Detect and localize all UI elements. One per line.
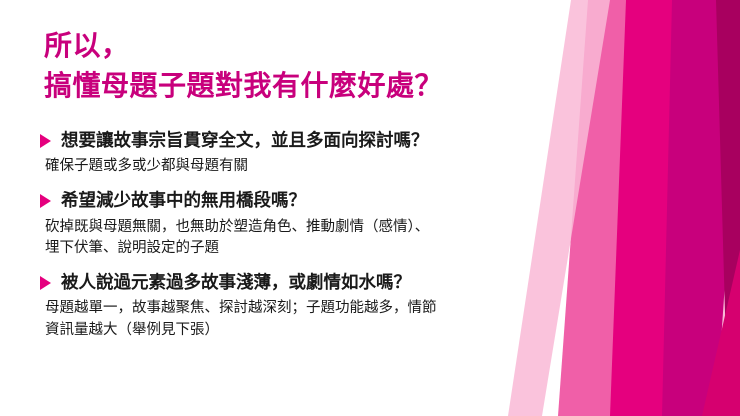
bullet-detail-1: 確保子題或多或少都與母題有關 — [45, 156, 640, 178]
bullet-detail-2: 砍掉既與母題無關，也無助於塑造角色、推動劇情（感情）、 埋下伏筆、說明設定的子題 — [45, 217, 640, 261]
detail-line: 埋下伏筆、說明設定的子題 — [45, 238, 640, 260]
bullet-label-2: 希望減少故事中的無用橋段嗎？ — [61, 188, 306, 213]
detail-line: 確保子題或多或少都與母題有關 — [45, 156, 640, 178]
detail-line: 母題越單一，故事越聚焦、探討越深刻；子題功能越多，情節 — [45, 298, 640, 320]
slide-title: 所以， 搞懂母題子題對我有什麼好處？ — [44, 26, 604, 106]
bullet-label-1: 想要讓故事宗旨貫穿全文，並且多面向探討嗎？ — [61, 128, 429, 153]
bullet-label-3: 被人說過元素過多故事淺薄，或劇情如水嗎？ — [61, 270, 411, 295]
bullet-item-1: 想要讓故事宗旨貫穿全文，並且多面向探討嗎？ — [40, 128, 640, 153]
triangle-bullet-icon — [40, 134, 51, 148]
slide-body: 想要讓故事宗旨貫穿全文，並且多面向探討嗎？ 確保子題或多或少都與母題有關 希望減… — [40, 128, 640, 352]
bullet-item-3: 被人說過元素過多故事淺薄，或劇情如水嗎？ — [40, 270, 640, 295]
detail-line: 資訊量越大（舉例見下張） — [45, 320, 640, 342]
slide-canvas: 所以， 搞懂母題子題對我有什麼好處？ 想要讓故事宗旨貫穿全文，並且多面向探討嗎？… — [0, 0, 740, 416]
triangle-bullet-icon — [40, 276, 51, 290]
bullet-detail-3: 母題越單一，故事越聚焦、探討越深刻；子題功能越多，情節 資訊量越大（舉例見下張） — [45, 298, 640, 342]
triangle-bullet-icon — [40, 194, 51, 208]
title-line-1: 所以， — [44, 26, 604, 66]
title-line-2: 搞懂母題子題對我有什麼好處？ — [44, 66, 604, 106]
bullet-item-2: 希望減少故事中的無用橋段嗎？ — [40, 188, 640, 213]
detail-line: 砍掉既與母題無關，也無助於塑造角色、推動劇情（感情）、 — [45, 217, 640, 239]
